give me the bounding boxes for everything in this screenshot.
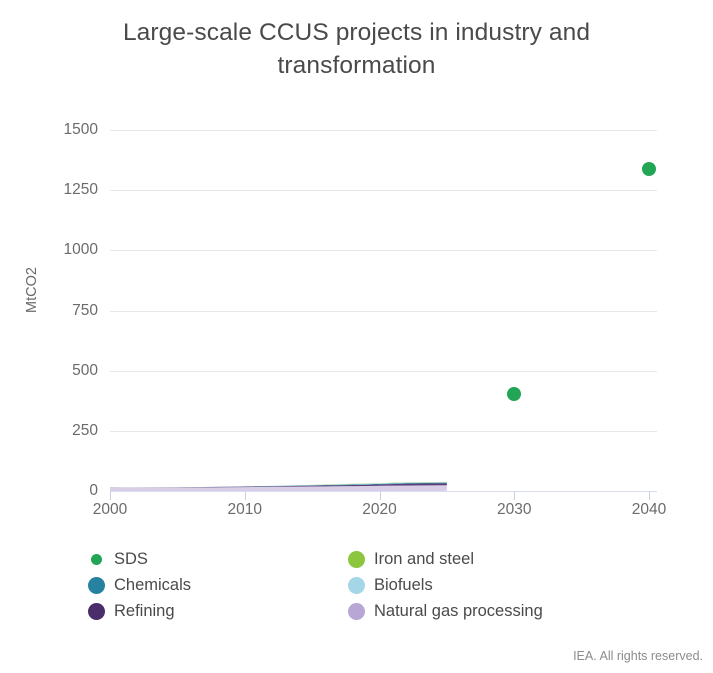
y-axis-tick-label: 1000 — [40, 241, 98, 259]
y-axis-tick-label: 1500 — [40, 121, 98, 139]
legend-item-label: Iron and steel — [374, 550, 474, 569]
gridline — [110, 190, 657, 191]
chart-title: Large-scale CCUS projects in industry an… — [60, 16, 653, 82]
legend-swatch-icon — [88, 577, 105, 594]
legend-item-label: SDS — [114, 550, 148, 569]
chart-container: Large-scale CCUS projects in industry an… — [0, 0, 713, 673]
scatter-point-sds — [507, 387, 521, 401]
gridline — [110, 431, 657, 432]
legend-item[interactable]: Chemicals — [88, 574, 191, 596]
y-axis-tick-label: 250 — [40, 422, 98, 440]
gridline — [110, 130, 657, 131]
chart-legend: SDSIron and steelChemicalsBiofuelsRefini… — [88, 548, 688, 628]
legend-item[interactable]: Refining — [88, 600, 175, 622]
x-axis-tick-mark — [110, 491, 111, 500]
y-axis-tick-label: 750 — [40, 302, 98, 320]
x-axis-tick-label: 2010 — [205, 501, 285, 519]
legend-swatch-icon — [348, 577, 365, 594]
y-axis-tick-label: 1250 — [40, 181, 98, 199]
x-axis-tick-label: 2030 — [474, 501, 554, 519]
legend-item-label: Chemicals — [114, 576, 191, 595]
x-axis-tick-mark — [245, 491, 246, 500]
y-axis-tick-label: 0 — [40, 482, 98, 500]
x-axis-line — [110, 491, 657, 492]
legend-item[interactable]: Iron and steel — [348, 548, 474, 570]
x-axis-tick-mark — [380, 491, 381, 500]
x-axis-tick-mark — [649, 491, 650, 500]
legend-item[interactable]: Biofuels — [348, 574, 433, 596]
scatter-point-sds — [642, 162, 656, 176]
x-axis-tick-label: 2040 — [609, 501, 689, 519]
legend-item[interactable]: Natural gas processing — [348, 600, 543, 622]
legend-item-label: Biofuels — [374, 576, 433, 595]
legend-swatch-icon — [88, 603, 105, 620]
legend-item[interactable]: SDS — [88, 548, 148, 570]
legend-swatch-icon — [348, 551, 365, 568]
y-axis-title: MtCO2 — [24, 250, 40, 330]
legend-swatch-icon — [91, 554, 102, 565]
x-axis-tick-label: 2020 — [340, 501, 420, 519]
gridline — [110, 250, 657, 251]
plot-area — [110, 130, 657, 491]
x-axis-tick-label: 2000 — [70, 501, 150, 519]
gridline — [110, 311, 657, 312]
legend-swatch-icon — [348, 603, 365, 620]
y-axis-tick-label: 500 — [40, 362, 98, 380]
x-axis-tick-mark — [514, 491, 515, 500]
gridline — [110, 371, 657, 372]
footer-attribution: IEA. All rights reserved. — [573, 649, 703, 663]
legend-item-label: Refining — [114, 602, 175, 621]
y-axis-tick-labels: 0250500750100012501500 — [34, 130, 98, 491]
legend-item-label: Natural gas processing — [374, 602, 543, 621]
